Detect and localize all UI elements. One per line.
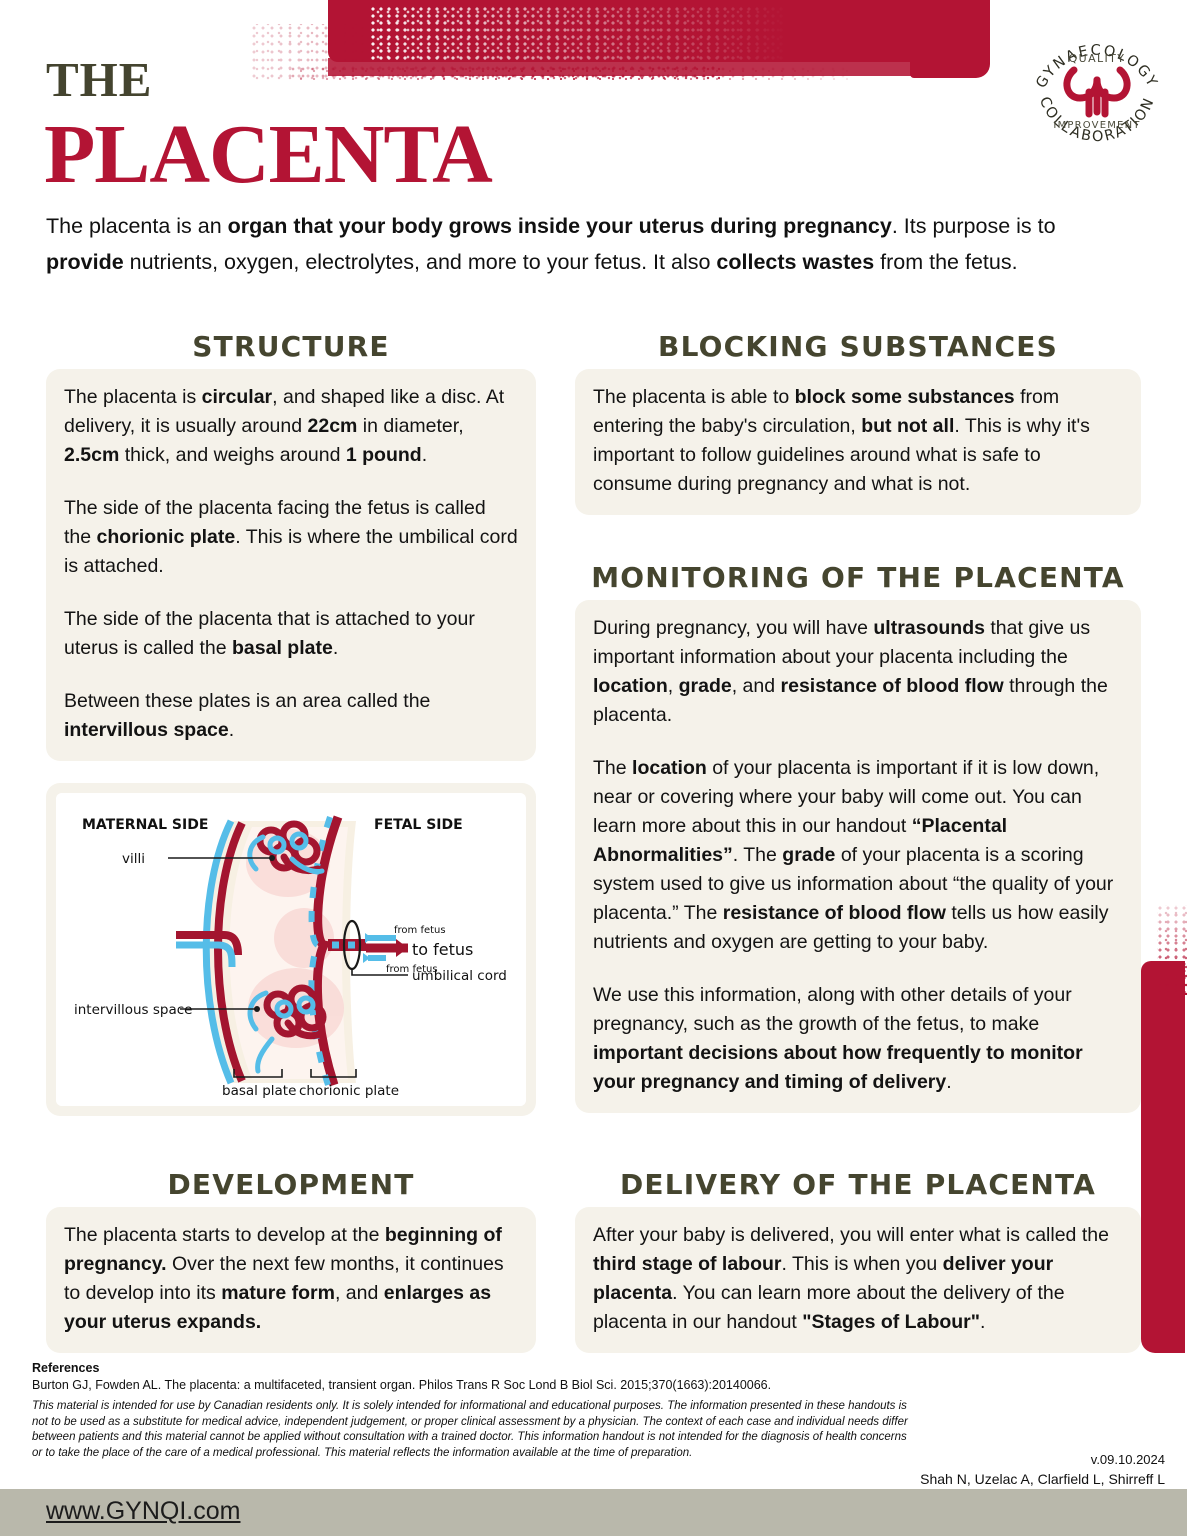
page-eyebrow: THE	[46, 55, 152, 104]
diagram-label-villi: villi	[122, 851, 145, 867]
blocking-paragraph-1: The placenta is able to block some subst…	[593, 383, 1123, 499]
section-heading-blocking-substances: BLOCKING SUBSTANCES	[575, 330, 1141, 363]
intro-paragraph: The placenta is an organ that your body …	[46, 208, 1082, 280]
section-card-development: The placenta starts to develop at the be…	[46, 1207, 536, 1353]
structure-paragraph-1: The placenta is circular, and shaped lik…	[64, 383, 518, 470]
gynqi-logo: GYNAECOLOGY COLLABORATION QUALITY IMPROV…	[1022, 18, 1172, 166]
references-title: References	[32, 1361, 912, 1375]
section-heading-development: DEVELOPMENT	[46, 1168, 536, 1201]
column-spacer	[575, 515, 1141, 561]
references-block: References Burton GJ, Fowden AL. The pla…	[32, 1361, 912, 1461]
diagram-label-chorionic-plate: chorionic plate	[299, 1083, 399, 1099]
monitoring-paragraph-2: The location of your placenta is importa…	[593, 754, 1123, 957]
placenta-diagram-card: MATERNAL SIDE FETAL SIDE villi intervill…	[46, 783, 536, 1116]
handout-page: GYNAECOLOGY COLLABORATION QUALITY IMPROV…	[0, 0, 1187, 1536]
uterus-icon	[1067, 70, 1127, 114]
section-card-structure: The placenta is circular, and shaped lik…	[46, 369, 536, 761]
references-citation: Burton GJ, Fowden AL. The placenta: a mu…	[32, 1377, 912, 1394]
version-label: v.09.10.2024	[1091, 1452, 1165, 1467]
disclaimer-text: This material is intended for use by Can…	[32, 1399, 912, 1461]
delivery-block: DELIVERY OF THE PLACENTA After your baby…	[575, 1168, 1141, 1353]
structure-paragraph-3: The side of the placenta that is attache…	[64, 605, 518, 663]
section-heading-delivery: DELIVERY OF THE PLACENTA	[575, 1168, 1141, 1201]
section-card-blocking-substances: The placenta is able to block some subst…	[575, 369, 1141, 515]
diagram-label-maternal-side: MATERNAL SIDE	[82, 817, 208, 833]
placenta-diagram: MATERNAL SIDE FETAL SIDE villi intervill…	[56, 793, 526, 1106]
section-heading-monitoring: MONITORING OF THE PLACENTA	[575, 561, 1141, 594]
logo-inner-top-text: QUALITY	[1069, 52, 1126, 65]
structure-paragraph-4: Between these plates is an area called t…	[64, 687, 518, 745]
section-heading-structure: STRUCTURE	[46, 330, 536, 363]
diagram-label-from-fetus-top: from fetus	[394, 925, 446, 936]
delivery-paragraph-1: After your baby is delivered, you will e…	[593, 1221, 1123, 1337]
diagram-label-fetal-side: FETAL SIDE	[374, 817, 463, 833]
section-card-monitoring: During pregnancy, you will have ultrasou…	[575, 600, 1141, 1113]
brush-stroke-top	[250, 0, 990, 92]
authors-label: Shah N, Uzelac A, Clarfield L, Shirreff …	[920, 1471, 1165, 1487]
development-paragraph-1: The placenta starts to develop at the be…	[64, 1221, 518, 1337]
website-link[interactable]: www.GYNQI.com	[46, 1497, 240, 1526]
diagram-label-umbilical-cord: umbilical cord	[412, 968, 507, 984]
section-card-delivery: After your baby is delivered, you will e…	[575, 1207, 1141, 1353]
diagram-label-to-fetus: to fetus	[412, 940, 473, 959]
monitoring-paragraph-1: During pregnancy, you will have ultrasou…	[593, 614, 1123, 730]
left-column: STRUCTURE The placenta is circular, and …	[46, 330, 536, 1116]
diagram-label-basal-plate: basal plate	[222, 1083, 296, 1099]
structure-paragraph-2: The side of the placenta facing the fetu…	[64, 494, 518, 581]
diagram-label-intervillous-space: intervillous space	[74, 1002, 192, 1018]
right-column: BLOCKING SUBSTANCES The placenta is able…	[575, 330, 1141, 1113]
logo-inner-bottom-text: IMPROVEMENT	[1053, 120, 1140, 131]
monitoring-paragraph-3: We use this information, along with othe…	[593, 981, 1123, 1097]
page-title: PLACENTA	[44, 113, 492, 197]
footer-bar: www.GYNQI.com	[0, 1489, 1187, 1536]
development-block: DEVELOPMENT The placenta starts to devel…	[46, 1168, 536, 1353]
